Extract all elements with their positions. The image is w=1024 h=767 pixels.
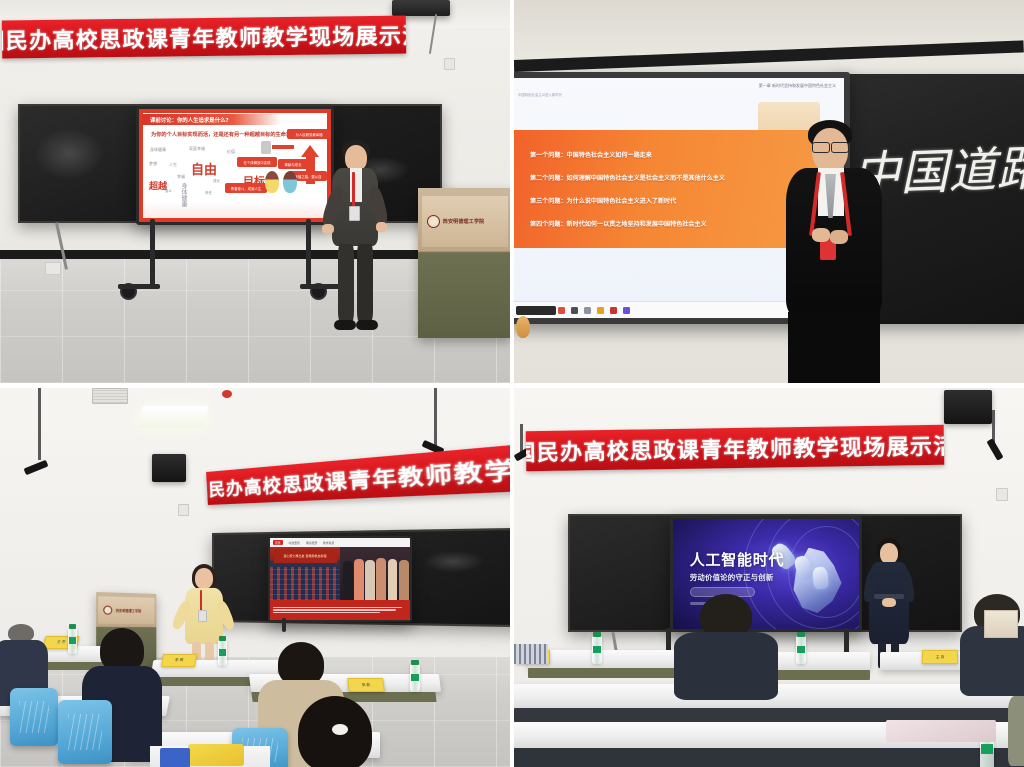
caption-line bbox=[273, 609, 396, 611]
word-cloud-item: 身体健康 bbox=[150, 147, 166, 153]
panel-top-left: 全国民办高校思政课青年教师教学现场展示活动 课前讨论：你的人生追求是什么? 为你… bbox=[0, 0, 510, 383]
presenter-female bbox=[866, 538, 912, 670]
hands-clasped bbox=[882, 598, 896, 607]
institution-name: 西安明德理工学院 bbox=[443, 218, 485, 225]
bottle-cap bbox=[593, 632, 601, 637]
speech-bubble: 青春奋斗，成就人生 bbox=[225, 183, 267, 193]
slide-subtitle: 劳动价值论的守正与创新 bbox=[690, 572, 774, 583]
head bbox=[880, 543, 898, 564]
media-icon[interactable] bbox=[571, 307, 578, 314]
display-stand-leg bbox=[306, 219, 311, 285]
speaker-icon bbox=[152, 454, 186, 482]
projector-icon bbox=[392, 0, 450, 16]
word-cloud-item: 梦想 bbox=[149, 161, 157, 167]
shoe-left bbox=[334, 320, 356, 330]
desk-front-panel bbox=[528, 668, 678, 678]
figure bbox=[376, 558, 386, 600]
news-tab[interactable]: 理论视野 bbox=[306, 541, 317, 545]
badge bbox=[349, 206, 360, 221]
leg-left bbox=[338, 244, 354, 322]
hand-right bbox=[376, 222, 387, 232]
torso bbox=[1008, 696, 1024, 766]
hair-clip bbox=[332, 724, 348, 735]
chart-card bbox=[514, 644, 548, 664]
robot-finger bbox=[811, 567, 828, 590]
hand-left bbox=[812, 228, 830, 242]
cartoon-student bbox=[265, 171, 279, 193]
word-cloud-item: 自由 bbox=[191, 159, 217, 178]
power-outlet-icon bbox=[444, 58, 455, 70]
photo-collage: 全国民办高校思政课青年教师教学现场展示活动 课前讨论：你的人生追求是什么? 为你… bbox=[0, 0, 1024, 767]
head bbox=[195, 568, 213, 589]
slide-title: 课前讨论：你的人生追求是什么? bbox=[143, 116, 229, 124]
nameplate: 张 静 bbox=[347, 678, 385, 692]
slide-title: 人工智能时代 bbox=[690, 549, 785, 570]
handout-paper bbox=[886, 720, 996, 742]
power-outlet-icon bbox=[178, 504, 189, 516]
audience-member bbox=[1008, 696, 1024, 766]
word-cloud-item: 幸福 bbox=[177, 174, 185, 180]
word-cloud-item: 家庭幸福 bbox=[189, 146, 205, 152]
lectern-nameplate: 西安明德理工学院 bbox=[99, 596, 154, 624]
hand-left bbox=[322, 224, 334, 234]
bottle-cap bbox=[219, 636, 226, 641]
word-cloud-item: 人生 bbox=[169, 162, 177, 168]
caption-line bbox=[273, 607, 402, 609]
slide-question: 为你的个人目标实现而活，还是还有另一种超越目标的生命意义? bbox=[151, 131, 299, 138]
chair[interactable] bbox=[10, 688, 58, 746]
news-caption bbox=[270, 600, 410, 620]
water-bottle-icon bbox=[68, 628, 77, 654]
ceiling-light-icon bbox=[137, 406, 208, 428]
cartoon-student bbox=[283, 171, 297, 193]
ethnic-costume-photo bbox=[340, 547, 410, 600]
leg-right bbox=[357, 244, 373, 322]
nameplate-text: 王 芳 bbox=[56, 640, 66, 645]
figure bbox=[354, 559, 364, 600]
bottle-cap bbox=[69, 624, 76, 629]
audience-member bbox=[674, 594, 778, 694]
glasses-left bbox=[812, 142, 830, 153]
figure bbox=[365, 560, 375, 600]
display-screen: 课前讨论：你的人生追求是什么? 为你的个人目标实现而活，还是还有另一种超越目标的… bbox=[139, 109, 331, 222]
figure bbox=[343, 561, 353, 600]
nameplate-text: 张 静 bbox=[362, 683, 371, 688]
smoke-detector-icon bbox=[222, 390, 232, 398]
chalk-smudge bbox=[423, 550, 484, 572]
display-stand-leg bbox=[282, 618, 286, 632]
audience-member bbox=[960, 594, 1024, 690]
word-cloud-item: 价值 bbox=[227, 149, 235, 155]
word-cloud-item: 身体健康 bbox=[179, 183, 188, 207]
speech-bubble: 为人民服务最幸福 bbox=[287, 129, 331, 139]
water-bottle-icon bbox=[796, 636, 806, 664]
badge bbox=[198, 610, 207, 622]
bottle-cap bbox=[411, 660, 419, 665]
slide-header-left: 中国特色社会主义进入新时代 bbox=[518, 92, 562, 97]
figure bbox=[399, 560, 409, 600]
nameplate-text: 李 明 bbox=[174, 658, 183, 663]
lanyard bbox=[200, 590, 202, 612]
conference-photo: 凝心聚力再出发 奋楫扬帆启新程 bbox=[270, 547, 340, 600]
news-body: 凝心聚力再出发 奋楫扬帆启新程 bbox=[270, 547, 410, 600]
glasses-right bbox=[831, 142, 849, 153]
water-bottle-icon bbox=[410, 664, 420, 692]
event-banner-text: 全国民办高校思政课青年教师教学现场展示活动 bbox=[2, 18, 406, 56]
panel-bottom-right: 全国民办高校思政课青年教师教学现场展示活动 人工智能时代 劳动价值论的守正与创新 bbox=[514, 388, 1024, 767]
lanyard bbox=[352, 172, 355, 208]
speech-bubble: 在个体解放中实现 bbox=[237, 157, 277, 167]
nameplate-text: 主 持 bbox=[936, 655, 944, 660]
presenter-female bbox=[326, 140, 388, 340]
speech-bubble: 奉献与成长 bbox=[278, 159, 308, 169]
conference-headline: 凝心聚力再出发 奋楫扬帆启新程 bbox=[274, 549, 337, 563]
word-cloud-item: 成长 bbox=[213, 179, 220, 184]
panel-bottom-left: 全国民办高校思政课青年教师教学现场展示活动 首页 时政要闻 理论视野 教学资源 bbox=[0, 388, 510, 767]
institution-name: 西安明德理工学院 bbox=[116, 608, 142, 613]
figure bbox=[388, 559, 398, 600]
hand-right bbox=[830, 230, 848, 244]
lectern-nameplate: 西安明德理工学院 bbox=[422, 196, 509, 247]
gallery-icon[interactable] bbox=[610, 307, 617, 314]
caption-line bbox=[273, 612, 380, 614]
word-cloud-item: 责任 bbox=[205, 191, 212, 196]
music-icon[interactable] bbox=[623, 307, 630, 314]
slide-top-left: 课前讨论：你的人生追求是什么? 为你的个人目标实现而活，还是还有另一种超越目标的… bbox=[139, 109, 331, 222]
mic-boom bbox=[38, 388, 41, 460]
display-stand-leg bbox=[150, 219, 155, 285]
desk-front-panel bbox=[514, 748, 1024, 767]
slide-header: 第一章 新时代坚持和发展中国特色社会主义 bbox=[759, 83, 836, 89]
power-outlet-icon bbox=[996, 488, 1008, 501]
settings-icon[interactable] bbox=[584, 307, 591, 314]
trousers bbox=[788, 312, 880, 383]
interactive-display[interactable]: 首页 时政要闻 理论视野 教学资源 凝心聚力再出发 奋楫扬帆启新程 bbox=[268, 536, 412, 622]
interactive-display[interactable]: 课前讨论：你的人生追求是什么? 为你的个人目标实现而活，还是还有另一种超越目标的… bbox=[136, 106, 334, 225]
event-banner: 全国民办高校思政课青年教师教学现场展示活动 bbox=[526, 425, 945, 472]
handout-booklet bbox=[188, 744, 244, 766]
news-tab[interactable]: 首页 bbox=[273, 540, 283, 545]
university-seal-icon bbox=[427, 215, 440, 228]
chair[interactable] bbox=[58, 700, 112, 764]
university-seal-icon bbox=[104, 606, 113, 615]
slide-title-bar: 课前讨论：你的人生追求是什么? bbox=[143, 114, 281, 125]
news-tab[interactable]: 时政要闻 bbox=[289, 541, 300, 545]
lectern: 西安明德理工学院 bbox=[418, 188, 510, 338]
audience-desk bbox=[528, 650, 678, 668]
audience-member bbox=[274, 696, 394, 767]
shoe-right bbox=[356, 320, 378, 330]
nameplate: 李 明 bbox=[161, 654, 197, 667]
bottle-cap bbox=[797, 632, 805, 637]
mic-boom bbox=[434, 388, 437, 446]
speaker-icon bbox=[944, 390, 992, 424]
torso bbox=[674, 632, 778, 700]
air-vent-icon bbox=[92, 388, 128, 404]
news-tab-bar[interactable]: 首页 时政要闻 理论视野 教学资源 bbox=[270, 538, 410, 547]
figure-icon bbox=[261, 141, 271, 154]
note-icon[interactable] bbox=[597, 307, 604, 314]
word-cloud: 自由 目标 超越 身体健康 家庭幸福 梦想 人生 价值 理想 幸福 成长 奋斗 … bbox=[147, 143, 267, 205]
event-banner: 全国民办高校思政课青年教师教学现场展示活动 bbox=[2, 16, 406, 59]
table-tent-card bbox=[984, 610, 1018, 638]
display-bezel-bottom bbox=[516, 306, 556, 315]
word-cloud-item: 奋斗 bbox=[165, 189, 172, 194]
display-screen: 首页 时政要闻 理论视野 教学资源 凝心聚力再出发 奋楫扬帆启新程 bbox=[270, 538, 410, 620]
panel-top-right: 中国道路 第一章 新时代坚持和发展中国特色社会主义 中国特色社会主义进入新时代 … bbox=[514, 0, 1024, 383]
pointer-bar bbox=[272, 145, 294, 149]
audience-seats bbox=[270, 567, 340, 600]
stand-base bbox=[118, 284, 160, 289]
slide-bottom-left: 首页 时政要闻 理论视野 教学资源 凝心聚力再出发 奋楫扬帆启新程 bbox=[270, 538, 410, 620]
water-bottle-icon bbox=[592, 636, 602, 664]
power-outlet-icon bbox=[45, 262, 61, 275]
presenter-male bbox=[786, 120, 896, 383]
nameplate: 主 持 bbox=[922, 650, 958, 664]
news-tab[interactable]: 教学资源 bbox=[323, 541, 334, 545]
water-bottle-icon bbox=[218, 640, 227, 666]
handout-booklet bbox=[160, 748, 190, 767]
chalk-smudge bbox=[34, 128, 104, 180]
plush-toy-icon bbox=[516, 316, 530, 338]
document-icon[interactable] bbox=[558, 307, 565, 314]
event-banner-text: 全国民办高校思政课青年教师教学现场展示活动 bbox=[526, 428, 945, 468]
